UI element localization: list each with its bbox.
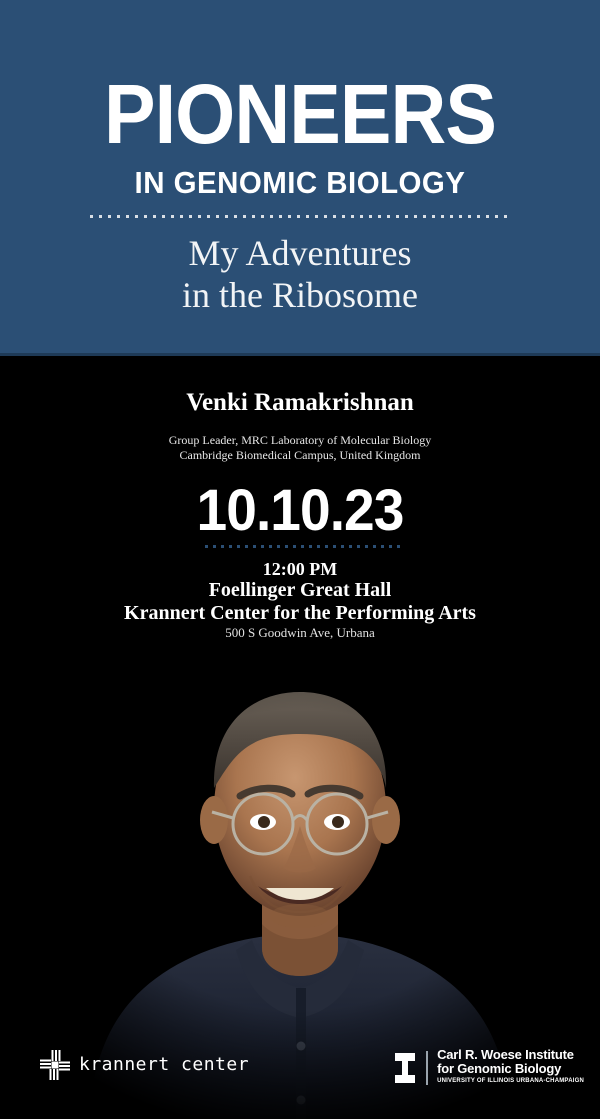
igb-logo: Carl R. Woese Institute for Genomic Biol… bbox=[393, 1048, 584, 1087]
dotted-divider-date bbox=[205, 545, 405, 548]
affiliation-line-1: Group Leader, MRC Laboratory of Molecula… bbox=[0, 433, 600, 448]
igb-name-line-2: for Genomic Biology bbox=[437, 1062, 584, 1076]
igb-name-line-1: Carl R. Woese Institute bbox=[437, 1048, 584, 1062]
talk-title: My Adventures in the Ribosome bbox=[0, 232, 600, 316]
dotted-divider-top bbox=[90, 215, 510, 218]
igb-university: UNIVERSITY OF ILLINOIS URBANA-CHAMPAIGN bbox=[437, 1076, 584, 1087]
series-title: PIONEERS bbox=[24, 72, 576, 156]
affiliation-line-2: Cambridge Biomedical Campus, United King… bbox=[0, 448, 600, 463]
talk-title-line-1: My Adventures bbox=[0, 232, 600, 274]
logo-divider bbox=[426, 1051, 428, 1085]
speaker-name: Venki Ramakrishnan bbox=[0, 389, 600, 417]
header-band-edge bbox=[0, 353, 600, 356]
krannert-center-logo: krannert center bbox=[40, 1050, 249, 1080]
event-date: 10.10.23 bbox=[15, 482, 585, 540]
series-subtitle: IN GENOMIC BIOLOGY bbox=[15, 167, 585, 198]
event-poster: PIONEERS IN GENOMIC BIOLOGY My Adventure… bbox=[0, 0, 600, 1119]
speaker-affiliation: Group Leader, MRC Laboratory of Molecula… bbox=[0, 433, 600, 463]
event-time: 12:00 PM bbox=[0, 558, 600, 580]
krannert-pinwheel-icon bbox=[40, 1050, 70, 1080]
event-address: 500 S Goodwin Ave, Urbana bbox=[0, 625, 600, 641]
event-venue: Foellinger Great Hall Krannert Center fo… bbox=[0, 579, 600, 625]
venue-line-1: Foellinger Great Hall bbox=[0, 579, 600, 602]
illinois-block-i-icon bbox=[393, 1051, 417, 1085]
talk-title-line-2: in the Ribosome bbox=[0, 274, 600, 316]
venue-line-2: Krannert Center for the Performing Arts bbox=[0, 602, 600, 625]
krannert-wordmark: krannert center bbox=[79, 1055, 249, 1075]
igb-wordmark: Carl R. Woese Institute for Genomic Biol… bbox=[437, 1048, 584, 1087]
